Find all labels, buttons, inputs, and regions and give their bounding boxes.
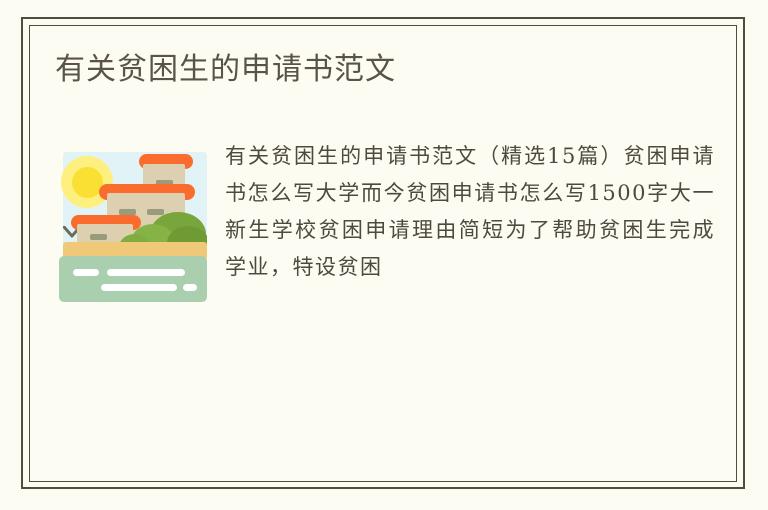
panel-text-line — [73, 269, 99, 276]
panel-text-line — [101, 284, 177, 291]
page-title: 有关贫困生的申请书范文 — [55, 50, 715, 90]
window-lower-icon — [90, 234, 107, 240]
article-page: 有关贫困生的申请书范文 — [0, 0, 768, 510]
panel-text-line — [107, 269, 185, 276]
document-panel-icon — [59, 256, 207, 302]
article-thumbnail-illustration — [55, 146, 207, 306]
article-body-block: 有关贫困生的申请书范文（精选15篇）贫困申请书怎么写大学而今贫困申请书怎么写15… — [55, 138, 715, 312]
window-middle-right-icon — [147, 209, 164, 215]
article-content: 有关贫困生的申请书范文 — [55, 50, 715, 460]
panel-text-line — [183, 284, 197, 291]
